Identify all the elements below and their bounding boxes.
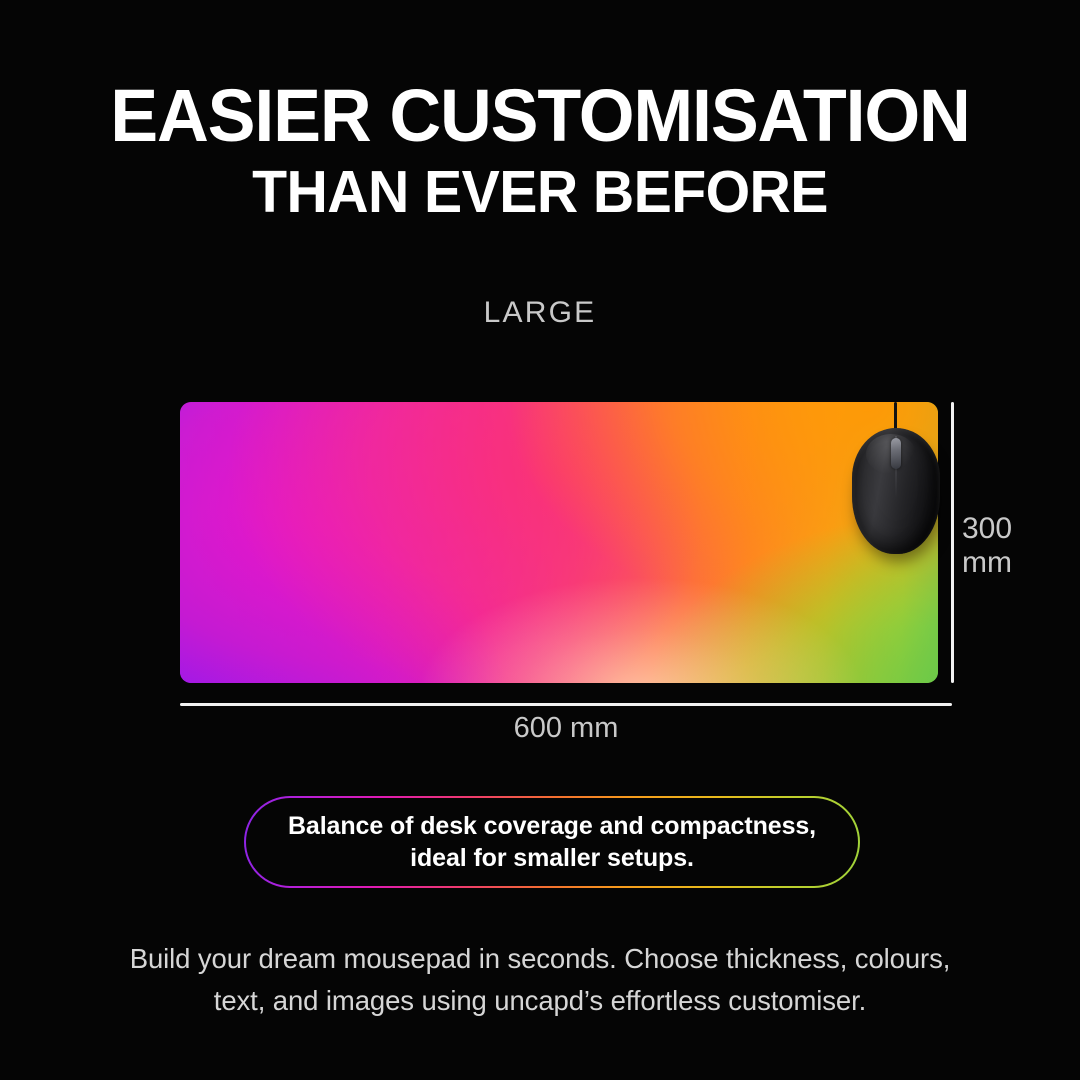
callout-line-1: Balance of desk coverage and compactness…	[288, 812, 816, 840]
headline-line-1: EASIER CUSTOMISATION	[16, 78, 1064, 153]
footer-description: Build your dream mousepad in seconds. Ch…	[90, 938, 990, 1022]
gradient-layer-magenta	[180, 402, 938, 683]
mousepad-figure	[180, 402, 938, 683]
callout-pill-inner: Balance of desk coverage and compactness…	[246, 798, 858, 886]
gradient-layer-orange	[180, 402, 938, 683]
headline-line-2: THAN EVER BEFORE	[16, 161, 1064, 224]
headline: EASIER CUSTOMISATION THAN EVER BEFORE	[0, 78, 1080, 224]
mouse-gloss	[866, 434, 916, 474]
height-dimension-value: 300	[962, 512, 1072, 546]
product-size-label: LARGE	[0, 296, 1080, 330]
width-dimension-rule	[180, 703, 952, 706]
promo-slide: EASIER CUSTOMISATION THAN EVER BEFORE LA…	[0, 0, 1080, 1080]
callout-line-2: ideal for smaller setups.	[410, 844, 694, 872]
gradient-layer-pink	[180, 402, 938, 683]
callout-pill: Balance of desk coverage and compactness…	[244, 796, 860, 888]
footer-line-2: text, and images using uncapd’s effortle…	[214, 985, 866, 1016]
width-dimension-label: 600 mm	[180, 712, 952, 745]
mousepad-surface	[180, 402, 938, 683]
gradient-layer-violet	[180, 402, 938, 683]
computer-mouse-icon	[852, 428, 940, 554]
callout-text: Balance of desk coverage and compactness…	[266, 810, 838, 875]
height-dimension-unit: mm	[962, 546, 1072, 580]
footer-line-1: Build your dream mousepad in seconds. Ch…	[130, 943, 951, 974]
gradient-layer-highlight	[180, 402, 938, 683]
height-dimension-label: 300 mm	[962, 512, 1072, 579]
height-dimension-rule	[951, 402, 954, 683]
gradient-layer-green	[180, 402, 938, 683]
